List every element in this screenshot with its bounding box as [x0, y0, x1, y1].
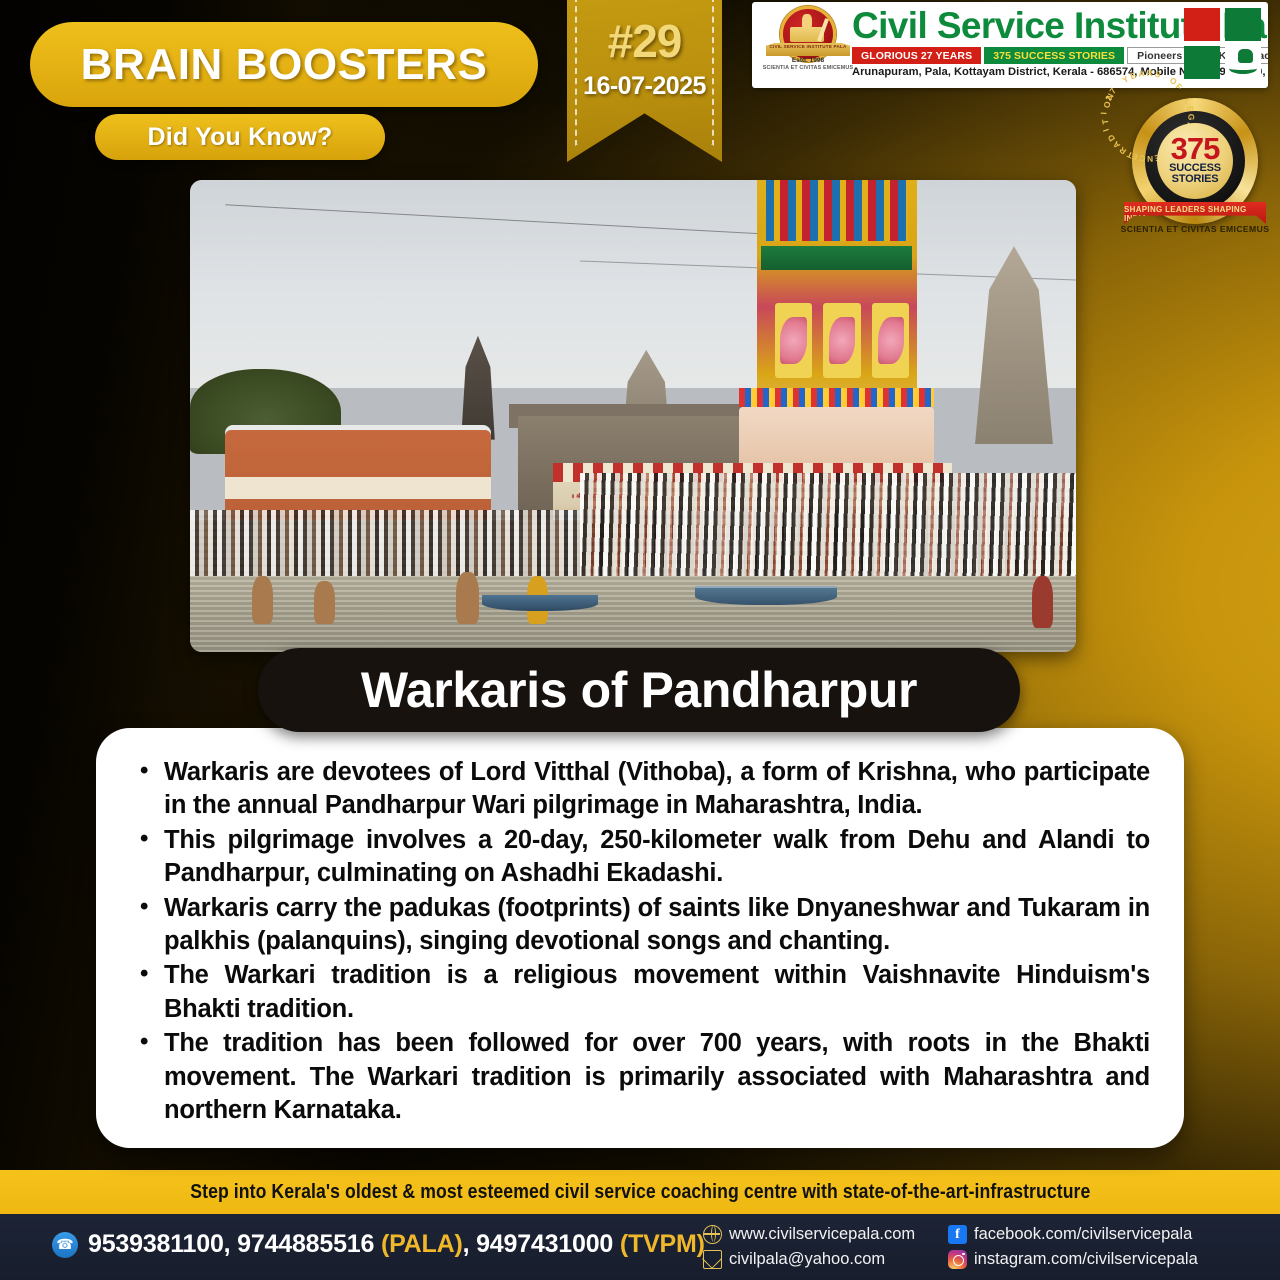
- footer-website: www.civilservicepala.com: [729, 1222, 915, 1247]
- photo-tower-plinth: [739, 407, 934, 468]
- badge-success-stories: 375 SUCCESS STORIES: [984, 47, 1124, 64]
- institute-crest-icon: CIVIL SERVICE INSTITUTE PALA Estd. 1998 …: [766, 5, 850, 67]
- fact-list-item: This pilgrimage involves a 20-day, 250-k…: [130, 824, 1150, 891]
- fact-list-item: The Warkari tradition is a religious mov…: [130, 959, 1150, 1026]
- photo-bather-5: [1032, 576, 1053, 628]
- phone-label-pala: (PALA): [381, 1230, 463, 1258]
- phone-icon: ☎: [52, 1232, 78, 1258]
- issue-number: #29: [567, 14, 722, 68]
- footer-instagram-row[interactable]: instagram.com/civilservicepala: [948, 1247, 1198, 1272]
- success-stories-seal: 27 YEARS OF LEGACYTRADITIONEXCELLENCE 37…: [1124, 98, 1266, 240]
- footer-instagram: instagram.com/civilservicepala: [974, 1247, 1198, 1272]
- decor-square-green-2: [1184, 46, 1220, 79]
- fist-icon: [1238, 49, 1253, 63]
- footer-facebook: facebook.com/civilservicepala: [974, 1222, 1192, 1247]
- crest-estd-text: Estd. 1998: [766, 57, 850, 64]
- footer-facebook-row[interactable]: f facebook.com/civilservicepala: [948, 1222, 1198, 1247]
- footer-email-row[interactable]: civilpala@yahoo.com: [703, 1247, 915, 1272]
- photo-sky: [190, 180, 1076, 388]
- page-title-text: Warkaris of Pandharpur: [361, 661, 917, 719]
- seal-center: 375 SUCCESS STORIES: [1157, 123, 1233, 199]
- feature-photo: ॥ श्री पुंडलिका भेटी परब्रह्म आले गा ॥: [190, 180, 1076, 652]
- footer-email: civilpala@yahoo.com: [729, 1247, 885, 1272]
- crest-motto-text: SCIENTIA ET CIVITAS EMICEMUS: [758, 65, 858, 71]
- photo-tower-base-band: [739, 388, 934, 407]
- seal-number: 375: [1171, 136, 1220, 163]
- footer-phone-group[interactable]: ☎ 9539381100, 9744885516 (PALA), 9497431…: [52, 1230, 705, 1259]
- content-card: Warkaris are devotees of Lord Vitthal (V…: [96, 728, 1184, 1148]
- header-band: BRAIN BOOSTERS Did You Know? #29 16-07-2…: [0, 0, 1280, 176]
- photo-fort-band: [225, 477, 491, 498]
- lamp-icon: [802, 14, 812, 28]
- footer-phone-numbers: 9539381100, 9744885516 (PALA), 949743100…: [88, 1230, 705, 1259]
- did-you-know-badge: Did You Know?: [95, 114, 385, 160]
- footer-website-row[interactable]: www.civilservicepala.com: [703, 1222, 915, 1247]
- seal-stories-label: STORIES: [1172, 174, 1219, 185]
- photo-bather-1: [252, 576, 273, 623]
- footer-contact-band: ☎ 9539381100, 9744885516 (PALA), 9497431…: [0, 1214, 1280, 1280]
- badge-glorious-years: GLORIOUS 27 YEARS: [852, 47, 981, 64]
- mail-icon: [703, 1250, 722, 1269]
- fact-list-item: Warkaris carry the padukas (footprints) …: [130, 892, 1150, 959]
- photo-boat-1: [695, 586, 837, 605]
- photo-tower-lotus-3: [878, 317, 905, 364]
- photo-tower-green-band: [761, 246, 912, 270]
- crest-ribbon-text: CIVIL SERVICE INSTITUTE PALA: [766, 44, 850, 49]
- facebook-icon: f: [948, 1225, 967, 1244]
- instagram-icon: [948, 1250, 967, 1269]
- phone-numbers-tvpm: , 9497431000: [463, 1230, 620, 1258]
- photo-boat-2: [482, 595, 597, 611]
- brain-boosters-label: BRAIN BOOSTERS: [81, 40, 488, 90]
- footer-web-group: www.civilservicepala.com civilpala@yahoo…: [703, 1222, 915, 1272]
- institute-logo-card: CIVIL SERVICE INSTITUTE PALA Estd. 1998 …: [752, 2, 1268, 88]
- fact-list-item: Warkaris are devotees of Lord Vitthal (V…: [130, 756, 1150, 823]
- fact-list: Warkaris are devotees of Lord Vitthal (V…: [130, 756, 1150, 1127]
- poster-canvas: BRAIN BOOSTERS Did You Know? #29 16-07-2…: [0, 0, 1280, 1280]
- leaf-icon: [1229, 63, 1257, 74]
- photo-tower-lotus-1: [780, 317, 807, 364]
- seal-motto-text: SCIENTIA ET CIVITAS EMICEMUS: [1118, 224, 1272, 234]
- page-title: Warkaris of Pandharpur: [258, 648, 1020, 732]
- did-you-know-label: Did You Know?: [148, 123, 333, 152]
- brain-boosters-badge: BRAIN BOOSTERS: [30, 22, 538, 107]
- footer-social-group: f facebook.com/civilservicepala instagra…: [948, 1222, 1198, 1272]
- photo-tower-crown: [766, 180, 908, 241]
- issue-date: 16-07-2025: [567, 72, 722, 101]
- fact-list-item: The tradition has been followed for over…: [130, 1027, 1150, 1127]
- decor-square-red: [1184, 8, 1220, 41]
- photo-bather-2: [314, 581, 335, 623]
- phone-label-tvpm: (TVPM): [620, 1230, 705, 1258]
- footer-tagline-band: Step into Kerala's oldest & most esteeme…: [0, 1170, 1280, 1214]
- decor-square-green-1: [1225, 8, 1261, 41]
- phone-numbers-pala: 9539381100, 9744885516: [88, 1230, 381, 1258]
- globe-icon: [703, 1225, 722, 1244]
- photo-bather-3: [456, 572, 479, 624]
- footer-tagline: Step into Kerala's oldest & most esteeme…: [190, 1180, 1090, 1204]
